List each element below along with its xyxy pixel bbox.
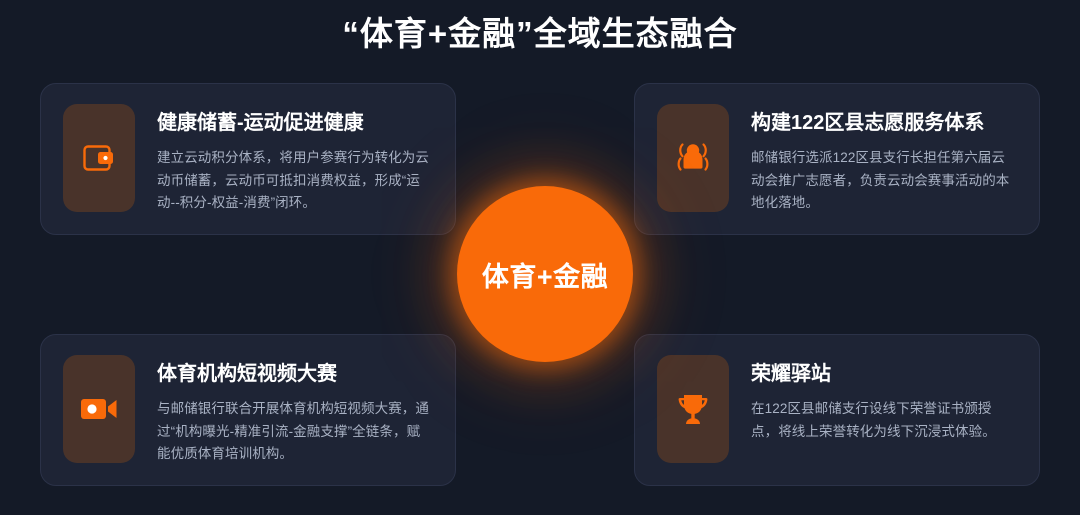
icon-tile-trophy [657, 355, 729, 463]
card-body: 体育机构短视频大赛 与邮储银行联合开展体育机构短视频大赛，通过“机构曝光-精准引… [157, 355, 433, 466]
card-title: 构建122区县志愿服务体系 [751, 110, 1017, 136]
icon-tile-video [63, 355, 135, 463]
card-body: 构建122区县志愿服务体系 邮储银行选派122区县支行长担任第六届云动会推广志愿… [751, 104, 1017, 215]
card-body: 健康储蓄-运动促进健康 建立云动积分体系，将用户参赛行为转化为云动币储蓄，云动币… [157, 104, 433, 215]
card-title: 体育机构短视频大赛 [157, 361, 433, 387]
card-volunteer-system[interactable]: 构建122区县志愿服务体系 邮储银行选派122区县支行长担任第六届云动会推广志愿… [634, 83, 1040, 235]
slide-root: “体育+金融”全域生态融合 健康储蓄-运动促进健康 建立云动积分体系，将用户参赛… [0, 0, 1080, 515]
icon-tile-wallet [63, 104, 135, 212]
card-health-savings[interactable]: 健康储蓄-运动促进健康 建立云动积分体系，将用户参赛行为转化为云动币储蓄，云动币… [40, 83, 456, 235]
card-title: 荣耀驿站 [751, 361, 1017, 387]
card-description: 在122区县邮储支行设线下荣誉证书颁授点，将线上荣誉转化为线下沉浸式体验。 [751, 398, 1017, 443]
trophy-icon [673, 390, 713, 428]
card-description: 与邮储银行联合开展体育机构短视频大赛，通过“机构曝光-精准引流-金融支撑”全链条… [157, 398, 433, 466]
volunteer-person-icon [672, 138, 714, 178]
card-body: 荣耀驿站 在122区县邮储支行设线下荣誉证书颁授点，将线上荣誉转化为线下沉浸式体… [751, 355, 1017, 443]
card-short-video-contest[interactable]: 体育机构短视频大赛 与邮储银行联合开展体育机构短视频大赛，通过“机构曝光-精准引… [40, 334, 456, 486]
card-honor-station[interactable]: 荣耀驿站 在122区县邮储支行设线下荣誉证书颁授点，将线上荣誉转化为线下沉浸式体… [634, 334, 1040, 486]
card-description: 邮储银行选派122区县支行长担任第六届云动会推广志愿者，负责云动会赛事活动的本地… [751, 147, 1017, 215]
center-hub[interactable]: 体育+金融 [457, 186, 633, 362]
card-title: 健康储蓄-运动促进健康 [157, 110, 433, 136]
hub-label: 体育+金融 [482, 255, 608, 294]
wallet-icon [79, 138, 119, 178]
video-camera-icon [78, 392, 120, 426]
icon-tile-volunteer [657, 104, 729, 212]
card-description: 建立云动积分体系，将用户参赛行为转化为云动币储蓄，云动币可抵扣消费权益，形成“运… [157, 147, 433, 215]
page-title: “体育+金融”全域生态融合 [0, 10, 1080, 58]
